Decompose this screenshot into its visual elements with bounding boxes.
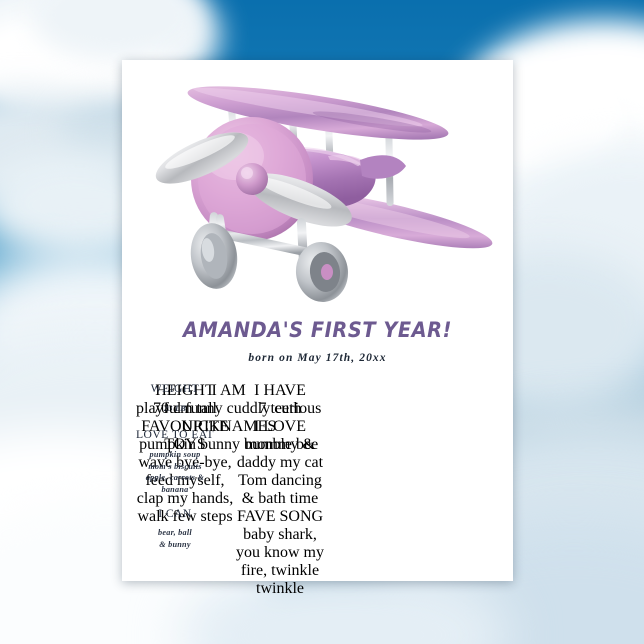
value-line: bath time bbox=[258, 490, 318, 507]
value-line: pumpkin bbox=[139, 436, 196, 453]
block-heading: I AM bbox=[136, 382, 321, 400]
block-fave-song: FAVE SONG baby shark, you know my fire, … bbox=[234, 508, 326, 598]
birth-date-subtitle: born on May 17th, 20xx bbox=[122, 352, 513, 364]
value-line: & bunny bbox=[136, 539, 214, 551]
value-line: bear, ball bbox=[136, 527, 214, 539]
milestone-columns: HEIGHT 70 cm tall FAVOURITE TOYS wave by… bbox=[136, 382, 499, 572]
value-line: playful bbox=[136, 400, 181, 417]
block-values: pumpkin soup mom's biscuits apple, carro… bbox=[136, 449, 214, 496]
block-i-can: I CAN bear, ball & bunny bbox=[136, 507, 214, 551]
value-line: curious bbox=[274, 400, 321, 417]
airplane-illustration bbox=[122, 60, 513, 308]
block-values: playful funny cuddly curious bbox=[136, 400, 321, 418]
block-values: pumpkin bunny bumble bee bbox=[136, 436, 321, 454]
value-line: cuddly bbox=[227, 400, 271, 417]
block-nicknames: NICKNAMES pumpkin bunny bumble bee bbox=[136, 418, 321, 454]
block-heading: NICKNAMES bbox=[136, 418, 321, 436]
value-line: funny bbox=[185, 400, 222, 417]
value-line: bumble bee bbox=[244, 436, 318, 453]
value-line: bunny bbox=[200, 436, 240, 453]
value-line: baby shark, bbox=[243, 526, 317, 543]
value-line: banana bbox=[136, 484, 214, 496]
value-line: mom's biscuits bbox=[136, 461, 214, 473]
block-values: bear, ball & bunny bbox=[136, 527, 214, 550]
tail-fin bbox=[360, 155, 406, 179]
value-line: apple, carrots & bbox=[136, 472, 214, 484]
column-4: I AM playful funny cuddly curious NICKNA… bbox=[136, 382, 321, 454]
block-values: baby shark, you know my fire, twinkle tw… bbox=[234, 526, 326, 598]
block-heading: I CAN bbox=[136, 507, 214, 521]
block-i-am: I AM playful funny cuddly curious bbox=[136, 382, 321, 418]
block-heading: FAVE SONG bbox=[234, 508, 326, 526]
page-title: AMANDA'S FIRST YEAR! bbox=[142, 318, 494, 343]
first-year-milestone-card: AMANDA'S FIRST YEAR! born on May 17th, 2… bbox=[122, 60, 513, 581]
